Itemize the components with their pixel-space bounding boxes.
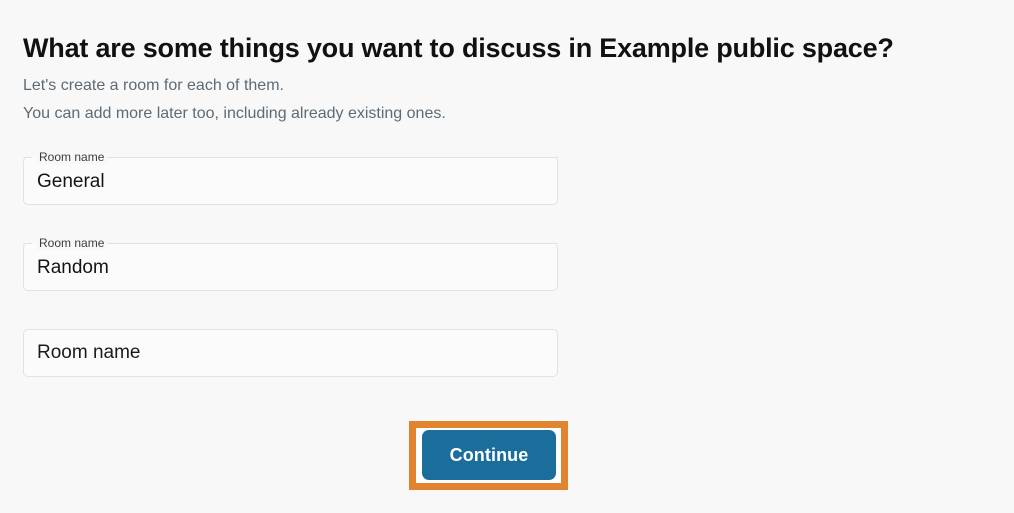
room-name-input-3[interactable]: Room name — [37, 341, 141, 365]
subtitle-line-2: You can add more later too, including al… — [23, 100, 823, 128]
room-name-field-2[interactable]: Room name Random — [23, 243, 558, 291]
room-name-label-2: Room name — [36, 236, 107, 250]
subtitle-line-1: Let's create a room for each of them. — [23, 72, 823, 100]
field-outline-segment — [107, 243, 558, 244]
room-name-field-3[interactable]: Room name — [23, 329, 558, 377]
field-outline-segment — [107, 157, 558, 158]
room-name-input-2[interactable]: Random — [37, 256, 109, 280]
onboarding-create-rooms-screen: What are some things you want to discuss… — [0, 0, 1014, 513]
room-name-label-1: Room name — [36, 150, 107, 164]
page-title: What are some things you want to discuss… — [23, 31, 998, 65]
room-name-input-1[interactable]: General — [37, 170, 105, 194]
continue-button[interactable]: Continue — [422, 430, 556, 480]
page-subtitle: Let's create a room for each of them. Yo… — [23, 72, 823, 128]
room-name-field-1[interactable]: Room name General — [23, 157, 558, 205]
